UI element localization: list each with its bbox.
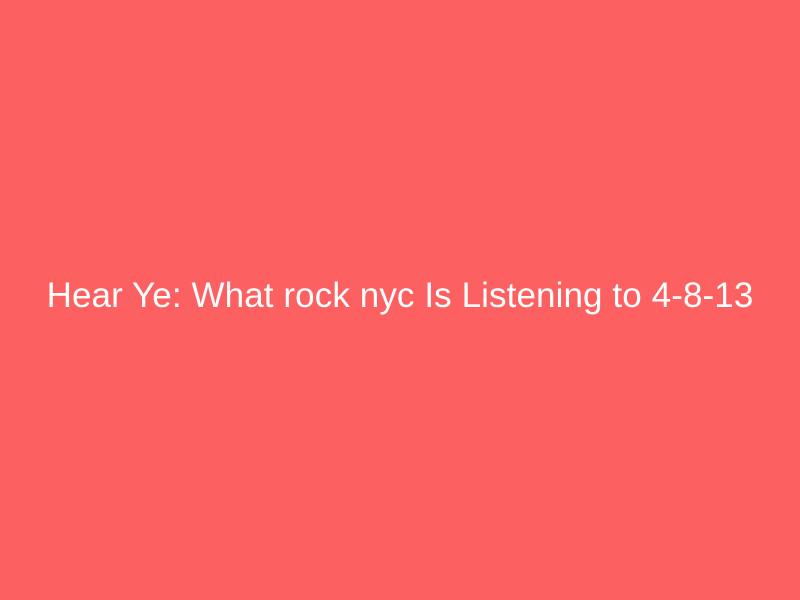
placeholder-card: Hear Ye: What rock nyc Is Listening to 4…: [0, 0, 800, 600]
headline-text: Hear Ye: What rock nyc Is Listening to 4…: [0, 272, 800, 320]
